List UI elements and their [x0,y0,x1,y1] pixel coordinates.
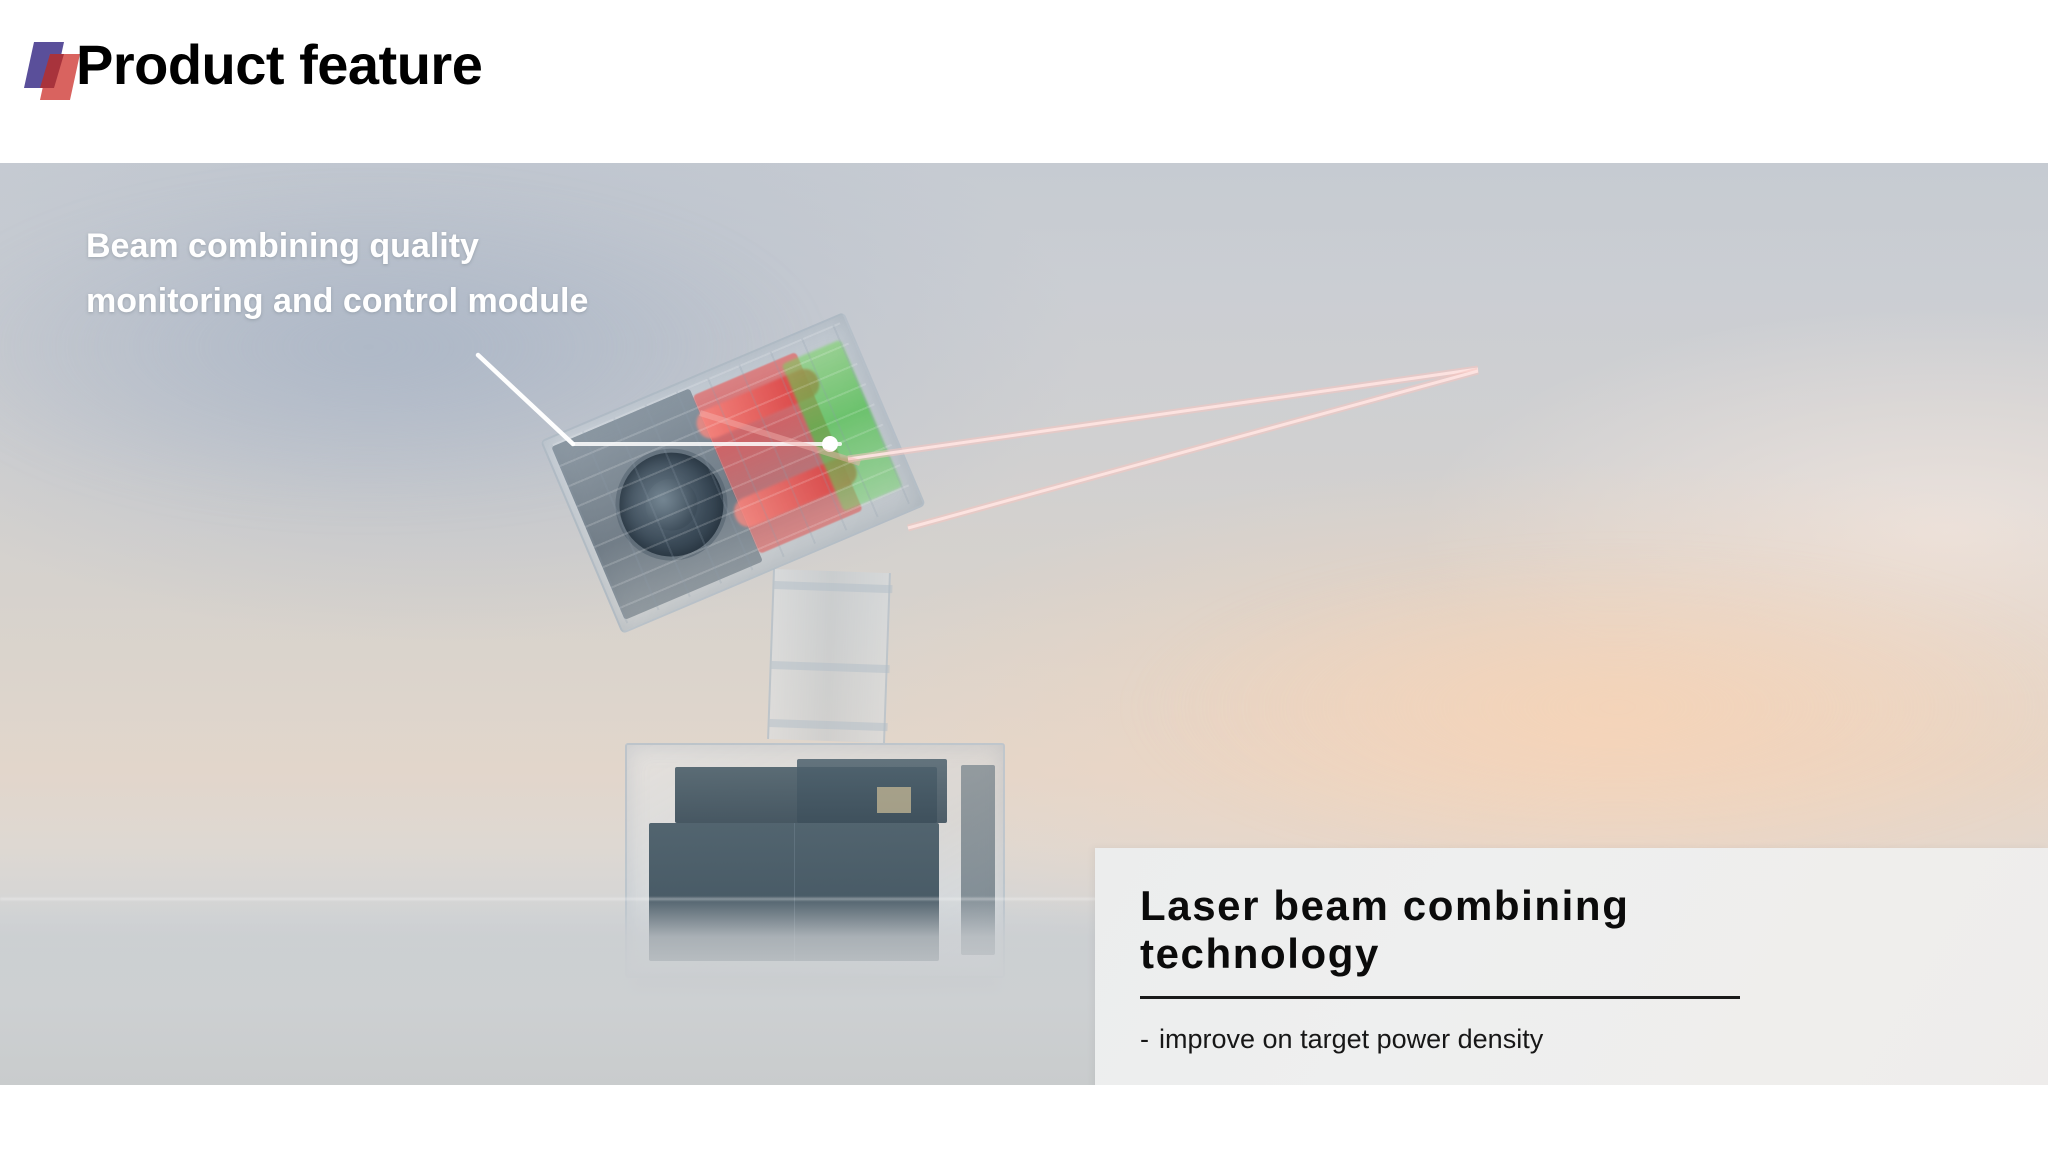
info-card-bullet-list: -improve on target power density -Real-t… [1140,1024,2020,1085]
photo-caption: Beam combining quality monitoring and co… [86,219,588,329]
list-item: -improve on target power density [1140,1024,2020,1055]
info-card: Laser beam combining technology -improve… [1095,848,2048,1085]
bullet-text: Real-time monitoring of beam quality [1159,1081,1599,1085]
slide: Product feature [0,0,2048,1152]
bullet-dash: - [1140,1024,1149,1054]
info-card-heading: Laser beam combining technology [1140,882,1760,978]
company-logo [22,38,84,104]
list-item: -Real-time monitoring of beam quality [1140,1081,2020,1085]
laser-beam-head-segment [700,413,860,463]
hero-image: Beam combining quality monitoring and co… [0,163,2048,1085]
laser-beam-upper [848,369,1478,459]
page-title: Product feature [76,30,482,100]
logo-icon [22,38,84,104]
slide-header: Product feature [0,0,2048,163]
info-card-divider [1140,996,1740,999]
laser-beam-lower [908,371,1478,528]
bullet-dash: - [1140,1081,1149,1085]
bullet-text: improve on target power density [1159,1024,1543,1054]
